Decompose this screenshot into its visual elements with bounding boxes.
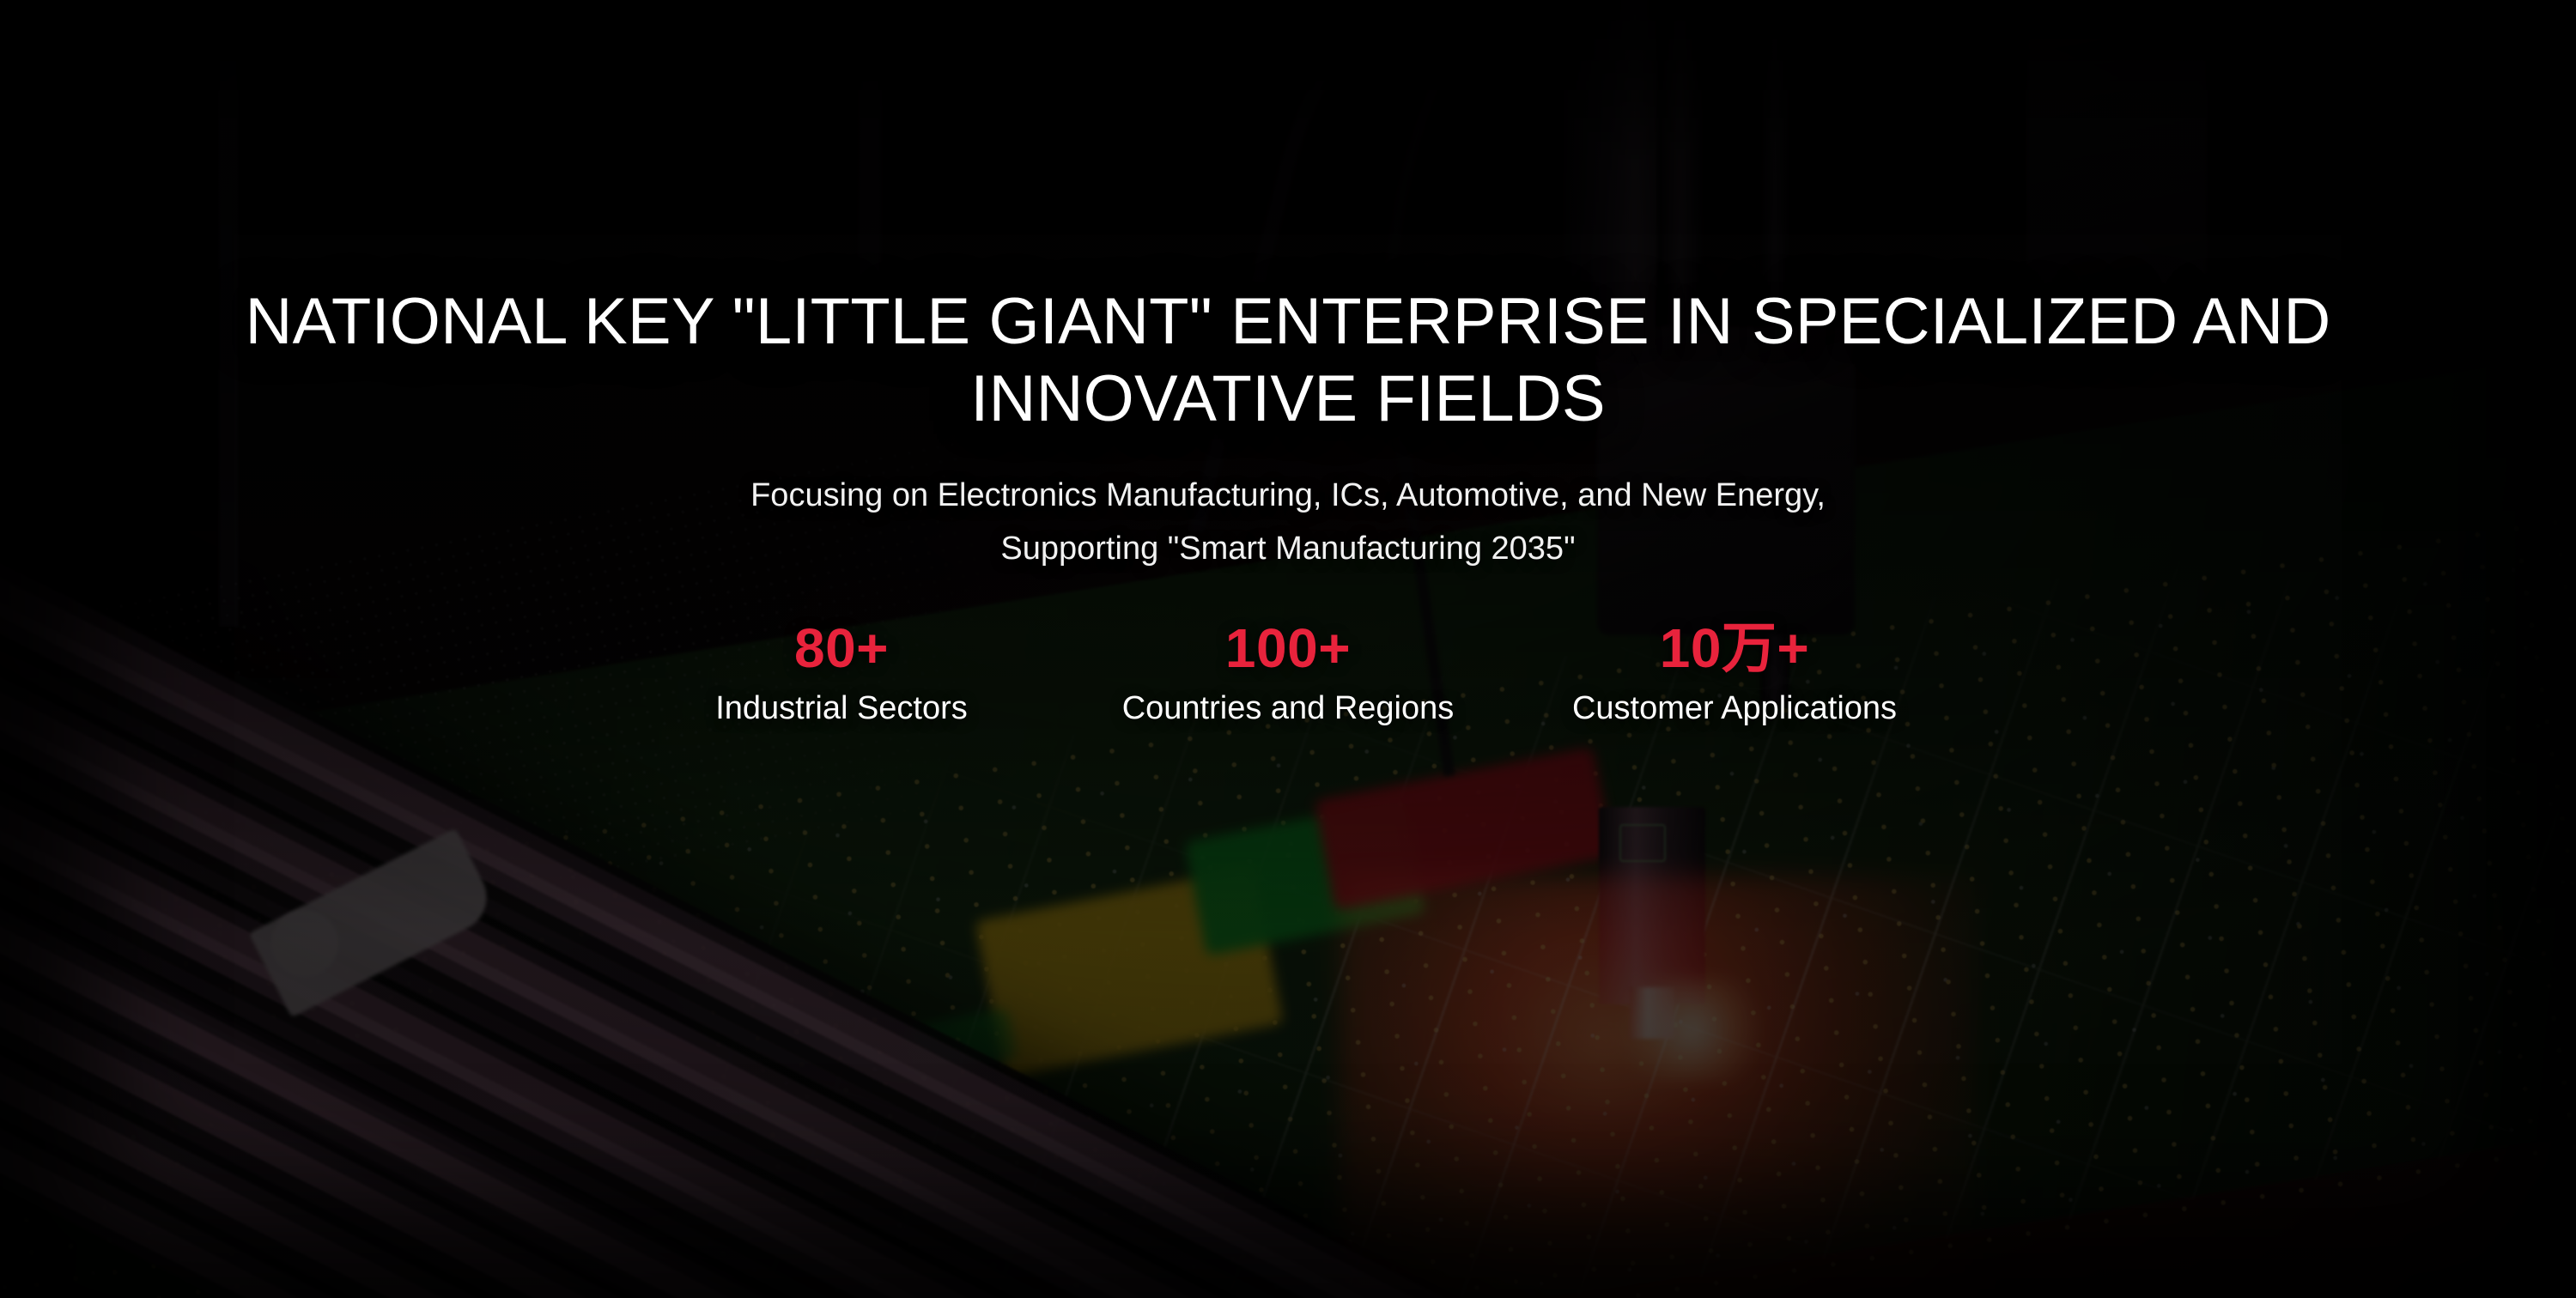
hero-subtitle-line-2: Supporting "Smart Manufacturing 2035" [343, 523, 2233, 576]
stat-customer-applications: 10万+ Customer Applications [1511, 620, 1958, 729]
page-title: NATIONAL KEY "LITTLE GIANT" ENTERPRISE I… [206, 283, 2370, 437]
stat-countries-and-regions: 100+ Countries and Regions [1065, 620, 1511, 729]
stat-value-countries-and-regions: 100+ [1065, 620, 1511, 677]
hero-subtitle: Focusing on Electronics Manufacturing, I… [343, 470, 2233, 575]
statistics-row: 80+ Industrial Sectors 100+ Countries an… [618, 620, 1958, 729]
stat-label-countries-and-regions: Countries and Regions [1065, 688, 1511, 730]
stat-value-customer-applications: 10万+ [1511, 620, 1958, 677]
stat-industrial-sectors: 80+ Industrial Sectors [618, 620, 1065, 729]
hero-subtitle-line-1: Focusing on Electronics Manufacturing, I… [343, 470, 2233, 523]
stat-value-industrial-sectors: 80+ [618, 620, 1065, 677]
stat-label-customer-applications: Customer Applications [1511, 688, 1958, 730]
hero-banner: NATIONAL KEY "LITTLE GIANT" ENTERPRISE I… [0, 0, 2576, 1298]
hero-content: NATIONAL KEY "LITTLE GIANT" ENTERPRISE I… [0, 0, 2576, 1298]
stat-label-industrial-sectors: Industrial Sectors [618, 688, 1065, 730]
